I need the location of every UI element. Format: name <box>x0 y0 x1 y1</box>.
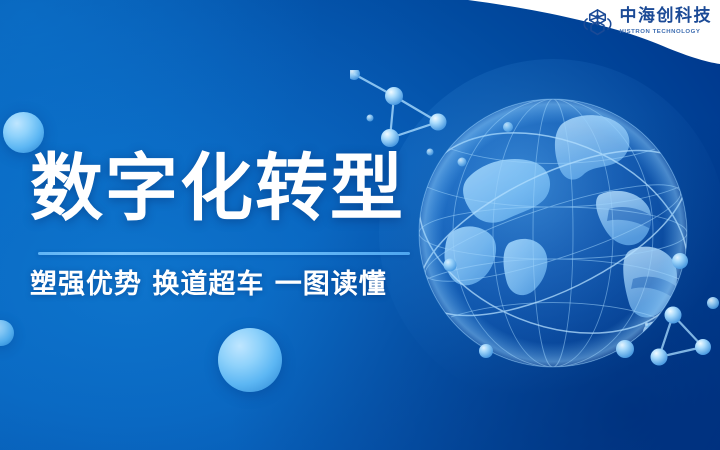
brand-name-en: HISTRON TECHNOLOGY <box>620 29 713 35</box>
sphere-edge-left <box>0 320 14 346</box>
sphere-center-bottom <box>218 328 282 392</box>
page-title: 数字化转型 <box>30 152 405 225</box>
histron-cube-emblem-icon <box>582 6 613 37</box>
title-divider-line <box>38 252 410 255</box>
network-nodes-triangle-bottom <box>645 285 720 380</box>
page-subtitle: 塑强优势 换道超车 一图读懂 <box>30 262 387 301</box>
digital-transformation-banner: 数字化转型 塑强优势 换道超车 一图读懂 中海创科技 HISTRON TECHN… <box>0 0 720 450</box>
brand-text: 中海创科技 HISTRON TECHNOLOGY <box>620 8 713 35</box>
brand-logo[interactable]: 中海创科技 HISTRON TECHNOLOGY <box>582 6 713 37</box>
brand-name-cn: 中海创科技 <box>620 8 713 25</box>
headline-block: 数字化转型 <box>30 152 405 225</box>
